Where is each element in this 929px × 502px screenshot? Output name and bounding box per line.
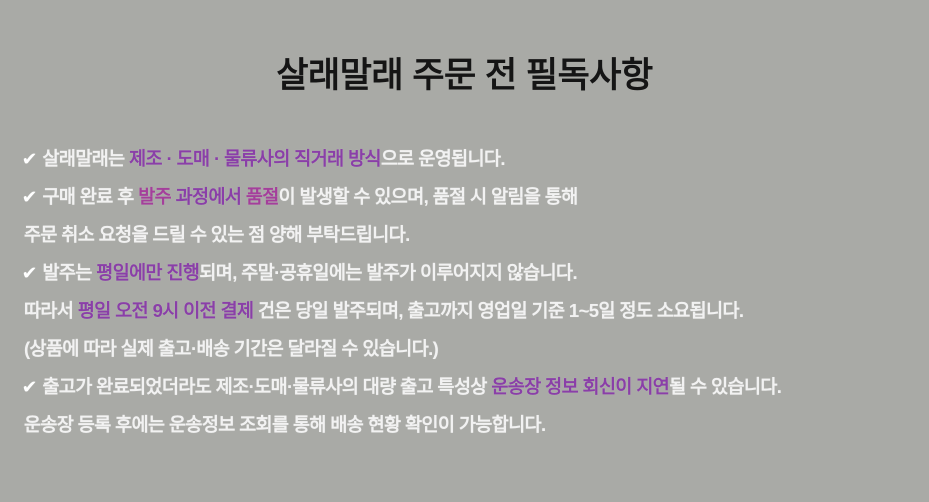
text-segment-pink: 발주	[138, 186, 171, 207]
text-segment-plain: 으로 운영됩니다.	[381, 148, 505, 169]
text-segment-plain: 살래말래는	[42, 148, 129, 169]
notice-line-1: ✔살래말래는 제조 · 도매 · 물류사의 직거래 방식으로 운영됩니다.	[22, 140, 917, 178]
check-icon: ✔	[22, 368, 37, 406]
text-segment-purple: 운송장 정보 회신이 지연	[491, 376, 669, 397]
text-segment-plain: (상품에 따라 실제 출고·배송 기간은 달라질 수 있습니다.)	[24, 338, 438, 359]
text-segment-plain: 되며, 주말·공휴일에는 발주가 이루어지지 않습니다.	[199, 262, 577, 283]
text-segment-purple: 과정에서	[171, 186, 246, 207]
text-segment-plain: 주문 취소 요청을 드릴 수 있는 점 양해 부탁드립니다.	[24, 224, 410, 245]
check-icon: ✔	[22, 140, 37, 178]
notice-line-2: ✔구매 완료 후 발주 과정에서 품절이 발생할 수 있으며, 품절 시 알림을…	[22, 178, 917, 216]
notice-line-6: (상품에 따라 실제 출고·배송 기간은 달라질 수 있습니다.)	[22, 330, 917, 368]
text-segment-plain: 구매 완료 후	[42, 186, 138, 207]
text-segment-plain: 될 수 있습니다.	[669, 376, 781, 397]
text-segment-purple: 평일에만 진행	[96, 262, 199, 283]
text-segment-plain: 운송장 등록 후에는 운송정보 조회를 통해 배송 현황 확인이 가능합니다.	[24, 414, 546, 435]
check-icon: ✔	[22, 254, 37, 292]
page-title: 살래말래 주문 전 필독사항	[0, 56, 929, 96]
text-segment-plain: 이 발생할 수 있으며, 품절 시 알림을 통해	[279, 186, 578, 207]
notice-line-8: 운송장 등록 후에는 운송정보 조회를 통해 배송 현황 확인이 가능합니다.	[22, 406, 917, 444]
notice-line-3: 주문 취소 요청을 드릴 수 있는 점 양해 부탁드립니다.	[22, 216, 917, 254]
text-segment-purple: 평일 오전 9시 이전 결제	[78, 300, 254, 321]
check-icon: ✔	[22, 178, 37, 216]
text-segment-plain: 따라서	[24, 300, 78, 321]
notice-card: 살래말래 주문 전 필독사항 ✔살래말래는 제조 · 도매 · 물류사의 직거래…	[0, 0, 929, 502]
notice-line-4: ✔발주는 평일에만 진행되며, 주말·공휴일에는 발주가 이루어지지 않습니다.	[22, 254, 917, 292]
text-segment-plain: 발주는	[42, 262, 96, 283]
notice-body: ✔살래말래는 제조 · 도매 · 물류사의 직거래 방식으로 운영됩니다.✔구매…	[22, 140, 917, 444]
notice-line-5: 따라서 평일 오전 9시 이전 결제 건은 당일 발주되며, 출고까지 영업일 …	[22, 292, 917, 330]
notice-line-7: ✔출고가 완료되었더라도 제조·도매·물류사의 대량 출고 특성상 운송장 정보…	[22, 368, 917, 406]
text-segment-plain: 출고가 완료되었더라도 제조·도매·물류사의 대량 출고 특성상	[42, 376, 491, 397]
text-segment-plain: 건은 당일 발주되며, 출고까지 영업일 기준 1~5일 정도 소요됩니다.	[253, 300, 743, 321]
text-segment-pink: 품절	[246, 186, 279, 207]
text-segment-purple: 제조 · 도매 · 물류사의 직거래 방식	[129, 148, 381, 169]
